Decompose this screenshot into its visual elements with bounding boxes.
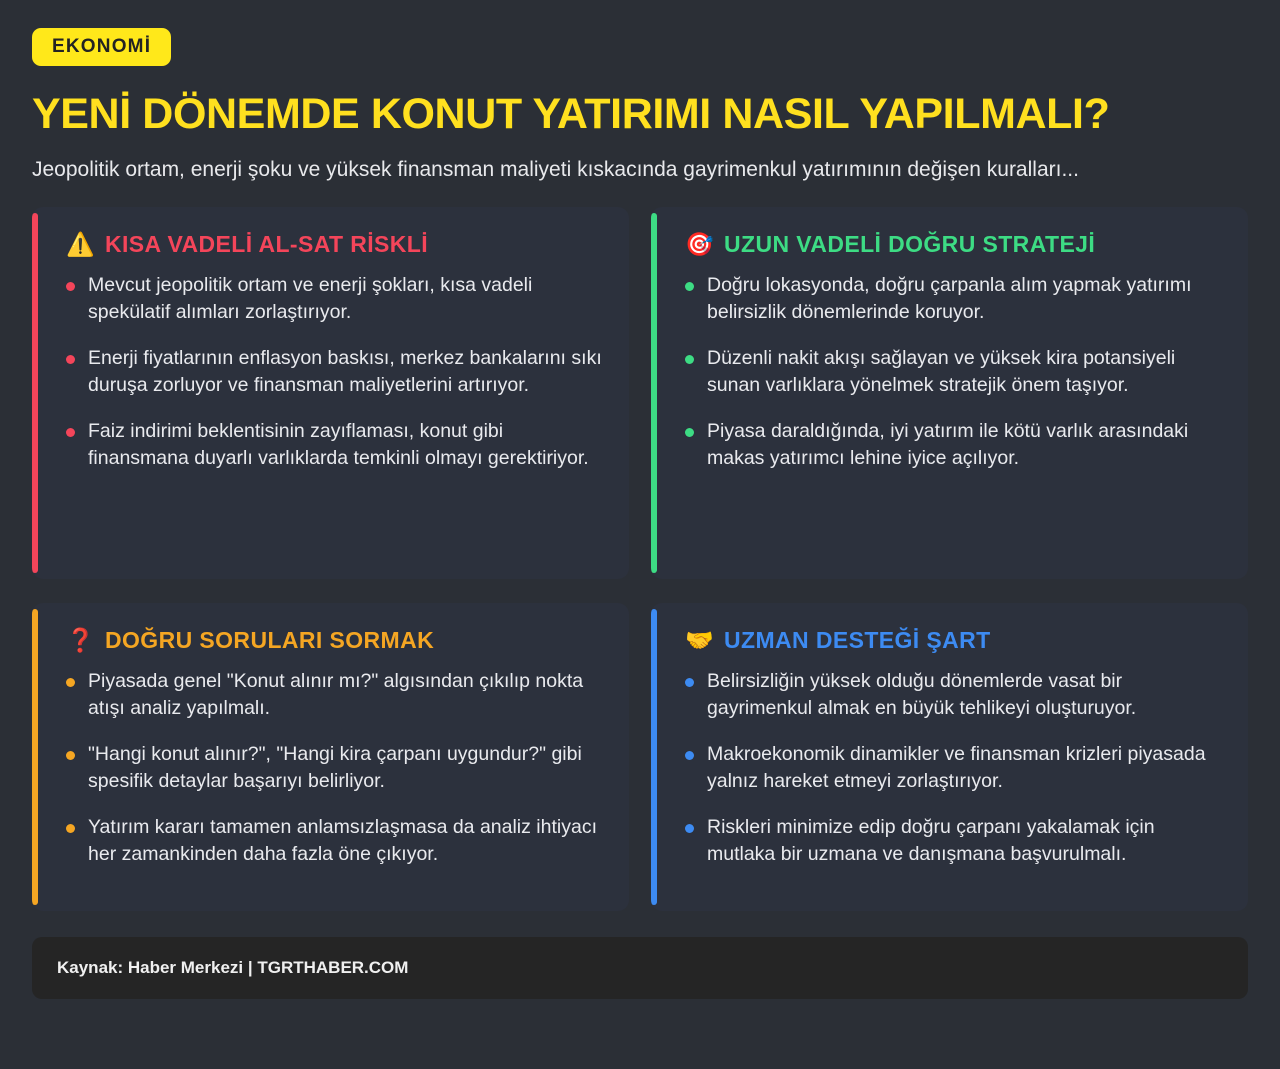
bullet-dot-icon	[66, 282, 75, 291]
card-header: 🤝UZMAN DESTEĞİ ŞART	[681, 629, 1222, 652]
card-title: DOĞRU SORULARI SORMAK	[105, 629, 434, 652]
list-item: Makroekonomik dinamikler ve finansman kr…	[685, 741, 1222, 795]
card-title: UZMAN DESTEĞİ ŞART	[724, 629, 991, 652]
category-badge: EKONOMİ	[32, 28, 171, 66]
bullet-dot-icon	[685, 678, 694, 687]
bullet-text: Düzenli nakit akışı sağlayan ve yüksek k…	[707, 345, 1222, 399]
source-text: Kaynak: Haber Merkezi | TGRTHABER.COM	[57, 958, 408, 978]
bullet-text: Piyasada genel "Konut alınır mı?" algısı…	[88, 668, 603, 722]
card-accent-bar	[651, 213, 657, 573]
card-accent-bar	[32, 609, 38, 905]
bullet-text: "Hangi konut alınır?", "Hangi kira çarpa…	[88, 741, 603, 795]
bullet-dot-icon	[685, 428, 694, 437]
bullet-dot-icon	[66, 824, 75, 833]
card-header: ❓DOĞRU SORULARI SORMAK	[62, 629, 603, 652]
list-item: Mevcut jeopolitik ortam ve enerji şoklar…	[66, 272, 603, 326]
bullet-text: Enerji fiyatlarının enflasyon baskısı, m…	[88, 345, 603, 399]
footer: Kaynak: Haber Merkezi | TGRTHABER.COM	[32, 937, 1248, 999]
warning-triangle-icon: ⚠️	[66, 233, 92, 256]
bullet-text: Belirsizliğin yüksek olduğu dönemlerde v…	[707, 668, 1222, 722]
list-item: "Hangi konut alınır?", "Hangi kira çarpa…	[66, 741, 603, 795]
card-title: KISA VADELİ AL-SAT RİSKLİ	[105, 233, 428, 256]
bullet-text: Yatırım kararı tamamen anlamsızlaşmasa d…	[88, 814, 603, 868]
list-item: Riskleri minimize edip doğru çarpanı yak…	[685, 814, 1222, 868]
bullet-dot-icon	[685, 751, 694, 760]
list-item: Doğru lokasyonda, doğru çarpanla alım ya…	[685, 272, 1222, 326]
bullet-list: Belirsizliğin yüksek olduğu dönemlerde v…	[681, 668, 1222, 867]
bullet-dot-icon	[66, 428, 75, 437]
list-item: Düzenli nakit akışı sağlayan ve yüksek k…	[685, 345, 1222, 399]
bullet-text: Faiz indirimi beklentisinin zayıflaması,…	[88, 418, 603, 472]
list-item: Belirsizliğin yüksek olduğu dönemlerde v…	[685, 668, 1222, 722]
bullet-dot-icon	[685, 355, 694, 364]
bullet-text: Doğru lokasyonda, doğru çarpanla alım ya…	[707, 272, 1222, 326]
card-uzun-vadeli-dogru-strateji: 🎯UZUN VADELİ DOĞRU STRATEJİDoğru lokasyo…	[651, 207, 1248, 579]
infographic-page: EKONOMİ YENİ DÖNEMDE KONUT YATIRIMI NASI…	[0, 0, 1280, 1069]
page-subtitle: Jeopolitik ortam, enerji şoku ve yüksek …	[32, 157, 1248, 183]
card-kisa-vadeli-al-sat-riskli: ⚠️KISA VADELİ AL-SAT RİSKLİMevcut jeopol…	[32, 207, 629, 579]
bullet-list: Mevcut jeopolitik ortam ve enerji şoklar…	[62, 272, 603, 471]
target-icon: 🎯	[685, 233, 711, 256]
card-uzman-destegi-sart: 🤝UZMAN DESTEĞİ ŞARTBelirsizliğin yüksek …	[651, 603, 1248, 911]
card-accent-bar	[651, 609, 657, 905]
bullet-text: Riskleri minimize edip doğru çarpanı yak…	[707, 814, 1222, 868]
cards-grid: ⚠️KISA VADELİ AL-SAT RİSKLİMevcut jeopol…	[32, 207, 1248, 911]
bullet-text: Makroekonomik dinamikler ve finansman kr…	[707, 741, 1222, 795]
list-item: Piyasada genel "Konut alınır mı?" algısı…	[66, 668, 603, 722]
list-item: Yatırım kararı tamamen anlamsızlaşmasa d…	[66, 814, 603, 868]
card-title: UZUN VADELİ DOĞRU STRATEJİ	[724, 233, 1095, 256]
bullet-list: Doğru lokasyonda, doğru çarpanla alım ya…	[681, 272, 1222, 471]
bullet-list: Piyasada genel "Konut alınır mı?" algısı…	[62, 668, 603, 867]
bullet-dot-icon	[66, 678, 75, 687]
bullet-dot-icon	[66, 751, 75, 760]
bullet-text: Mevcut jeopolitik ortam ve enerji şoklar…	[88, 272, 603, 326]
handshake-icon: 🤝	[685, 629, 711, 652]
card-header: ⚠️KISA VADELİ AL-SAT RİSKLİ	[62, 233, 603, 256]
header: EKONOMİ YENİ DÖNEMDE KONUT YATIRIMI NASI…	[32, 28, 1248, 183]
question-mark-icon: ❓	[66, 629, 92, 652]
bullet-dot-icon	[685, 824, 694, 833]
list-item: Piyasa daraldığında, iyi yatırım ile köt…	[685, 418, 1222, 472]
list-item: Enerji fiyatlarının enflasyon baskısı, m…	[66, 345, 603, 399]
card-header: 🎯UZUN VADELİ DOĞRU STRATEJİ	[681, 233, 1222, 256]
card-accent-bar	[32, 213, 38, 573]
list-item: Faiz indirimi beklentisinin zayıflaması,…	[66, 418, 603, 472]
card-dogru-sorulari-sormak: ❓DOĞRU SORULARI SORMAKPiyasada genel "Ko…	[32, 603, 629, 911]
page-title: YENİ DÖNEMDE KONUT YATIRIMI NASIL YAPILM…	[32, 92, 1248, 137]
bullet-text: Piyasa daraldığında, iyi yatırım ile köt…	[707, 418, 1222, 472]
bullet-dot-icon	[685, 282, 694, 291]
bullet-dot-icon	[66, 355, 75, 364]
